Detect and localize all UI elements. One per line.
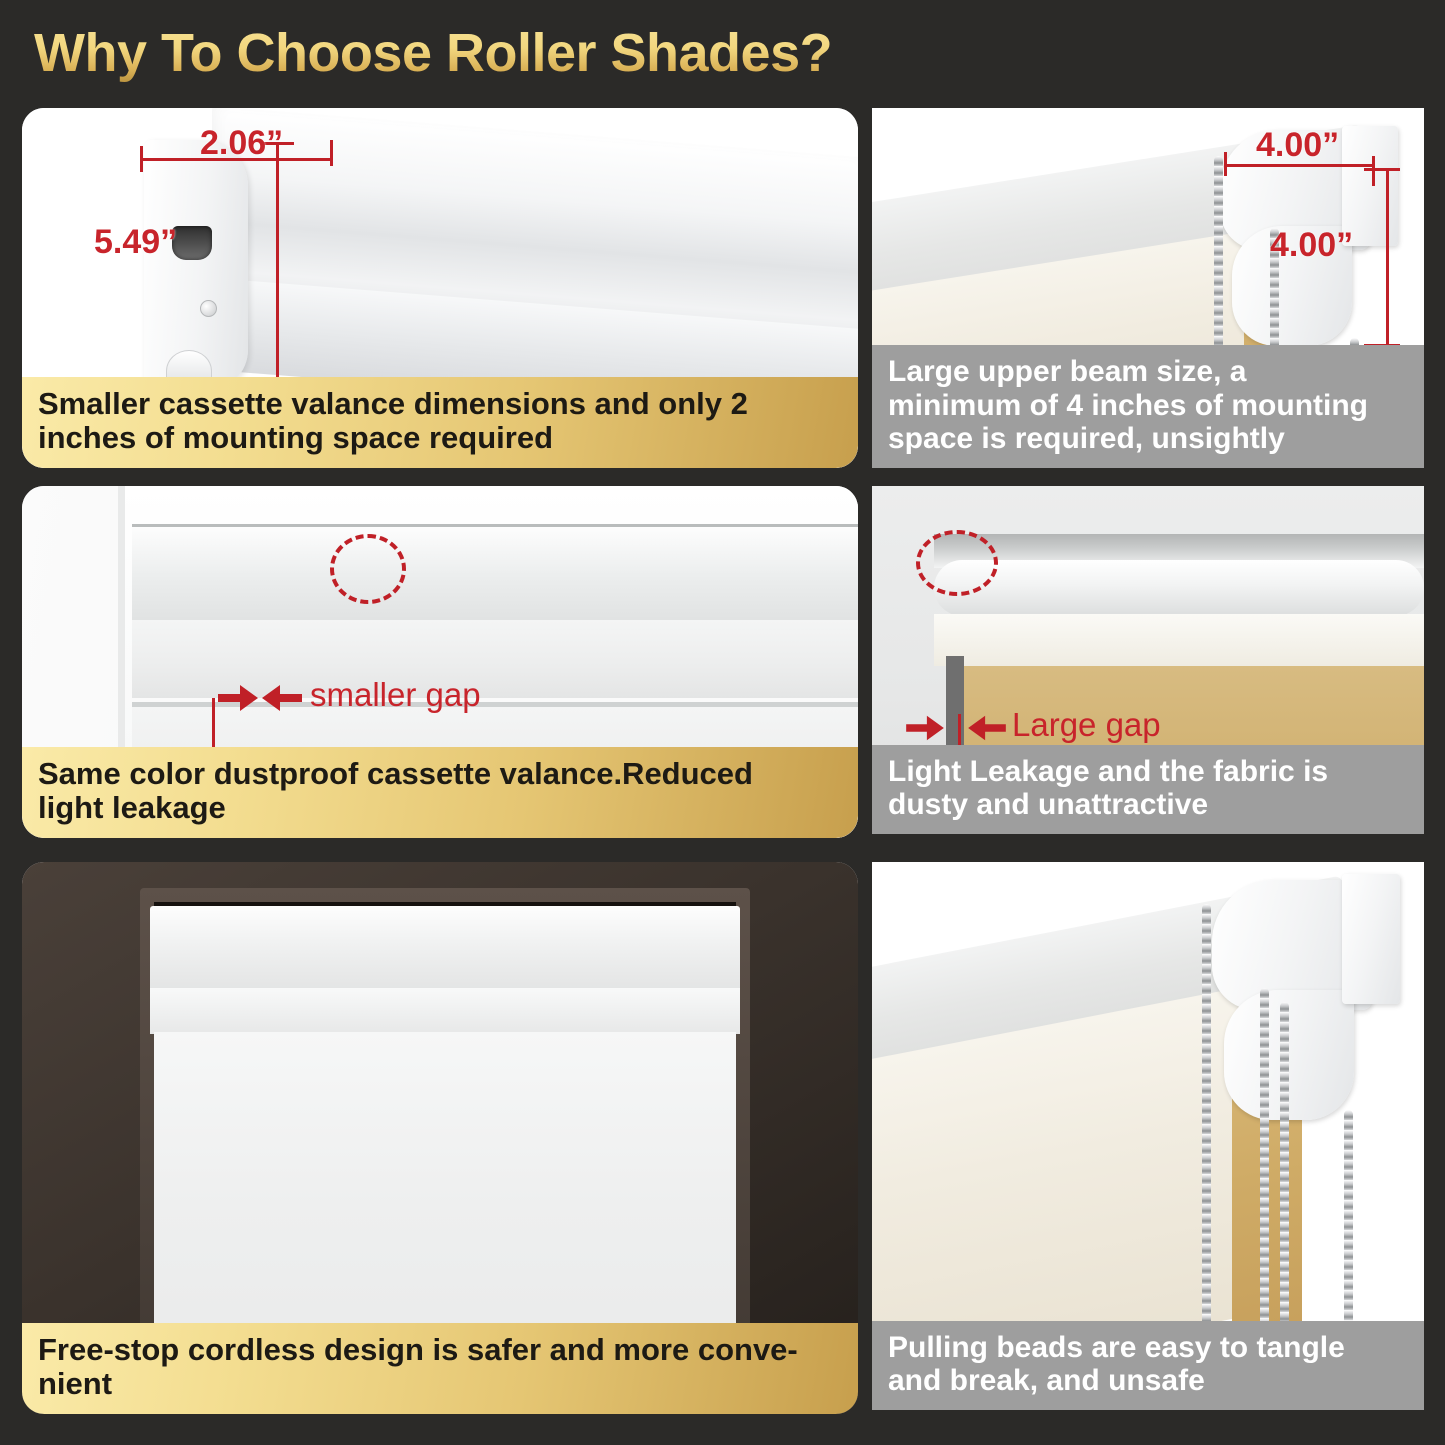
end-cap-screw (200, 300, 217, 317)
caption-line: Large upper beam size, a (888, 355, 1408, 389)
panel-smaller-cassette[interactable]: 5.49” 2.06” Smaller cassette valance dim… (22, 108, 858, 468)
panel-light-leakage[interactable]: Large gap Light Leakage and the fabric i… (872, 486, 1424, 834)
valance-lower-lip (150, 988, 740, 1034)
caption-line: inches of mounting space required (38, 421, 842, 456)
panel-pulling-beads[interactable]: Pulling beads are easy to tangle and bre… (872, 862, 1424, 1410)
width-dimension-label: 2.06” (200, 124, 283, 163)
panel-dustproof-valance[interactable]: smaller gap Same color dustproof cassett… (22, 486, 858, 838)
roller-tube (934, 560, 1424, 616)
caption-dustproof-valance: Same color dustproof cassette valance.Re… (22, 747, 858, 838)
valance-end-cap (144, 140, 248, 390)
caption-light-leakage: Light Leakage and the fabric is dusty an… (872, 745, 1424, 834)
caption-line: and break, and unsafe (888, 1364, 1408, 1398)
gap-arrow-left-icon (906, 712, 944, 744)
caption-line: Light Leakage and the fabric is (888, 755, 1408, 789)
panel-row-3: Free-stop cordless design is safer and m… (0, 850, 1445, 1425)
caption-line: Pulling beads are easy to tangle (888, 1331, 1408, 1365)
panel-row-2: smaller gap Same color dustproof cassett… (0, 478, 1445, 850)
light-leak-highlight-circle (916, 530, 998, 596)
roller-mounting-plate (1342, 874, 1400, 1004)
page-title: Why To Choose Roller Shades? (34, 22, 832, 84)
tight-fit-highlight-circle (330, 534, 406, 604)
smaller-gap-label: smaller gap (310, 676, 481, 714)
width-dimension-tick-left (140, 146, 143, 172)
caption-smaller-cassette: Smaller cassette valance dimensions and … (22, 377, 858, 468)
caption-line: dusty and unattractive (888, 788, 1408, 822)
caption-line: minimum of 4 inches of mounting (888, 389, 1408, 423)
caption-line: nient (38, 1367, 842, 1402)
panel-large-upper-beam[interactable]: 4.00” 4.00” Large upper beam size, a min… (872, 108, 1424, 468)
caption-line: Smaller cassette valance dimensions and … (38, 387, 842, 422)
caption-large-upper-beam: Large upper beam size, a minimum of 4 in… (872, 345, 1424, 468)
beam-height-dimension-line (1386, 168, 1389, 346)
roller-bracket-lower (1224, 990, 1354, 1120)
end-cap-slot (172, 226, 212, 260)
gap-arrow-left-icon (218, 681, 258, 715)
height-dimension-label: 5.49” (94, 223, 177, 262)
panel-grid: 5.49” 2.06” Smaller cassette valance dim… (0, 108, 1445, 1425)
caption-line: light leakage (38, 791, 842, 826)
caption-line: Same color dustproof cassette valance.Re… (38, 757, 842, 792)
infographic-page: Why To Choose Roller Shades? (0, 0, 1445, 1445)
beam-width-label: 4.00” (1256, 126, 1339, 165)
height-dimension-line (276, 142, 279, 382)
caption-line: space is required, unsightly (888, 422, 1408, 456)
cassette-valance (132, 524, 858, 623)
caption-pulling-beads: Pulling beads are easy to tangle and bre… (872, 1321, 1424, 1410)
panel-row-1: 5.49” 2.06” Smaller cassette valance dim… (0, 108, 1445, 478)
width-dimension-tick-right (330, 140, 333, 166)
cassette-valance (150, 906, 740, 992)
beam-width-tick-left (1224, 152, 1227, 176)
large-gap-label: Large gap (1012, 706, 1161, 744)
gap-arrow-right-icon (968, 712, 1006, 744)
beam-height-label: 4.00” (1270, 226, 1353, 265)
caption-line: Free-stop cordless design is safer and m… (38, 1333, 842, 1368)
caption-cordless-design: Free-stop cordless design is safer and m… (22, 1323, 858, 1414)
beam-height-tick-top (1364, 168, 1400, 171)
panel-cordless-design[interactable]: Free-stop cordless design is safer and m… (22, 862, 858, 1414)
gap-arrow-right-icon (262, 681, 302, 715)
fabric-top-edge (934, 614, 1424, 666)
beam-width-tick-right (1372, 156, 1375, 186)
